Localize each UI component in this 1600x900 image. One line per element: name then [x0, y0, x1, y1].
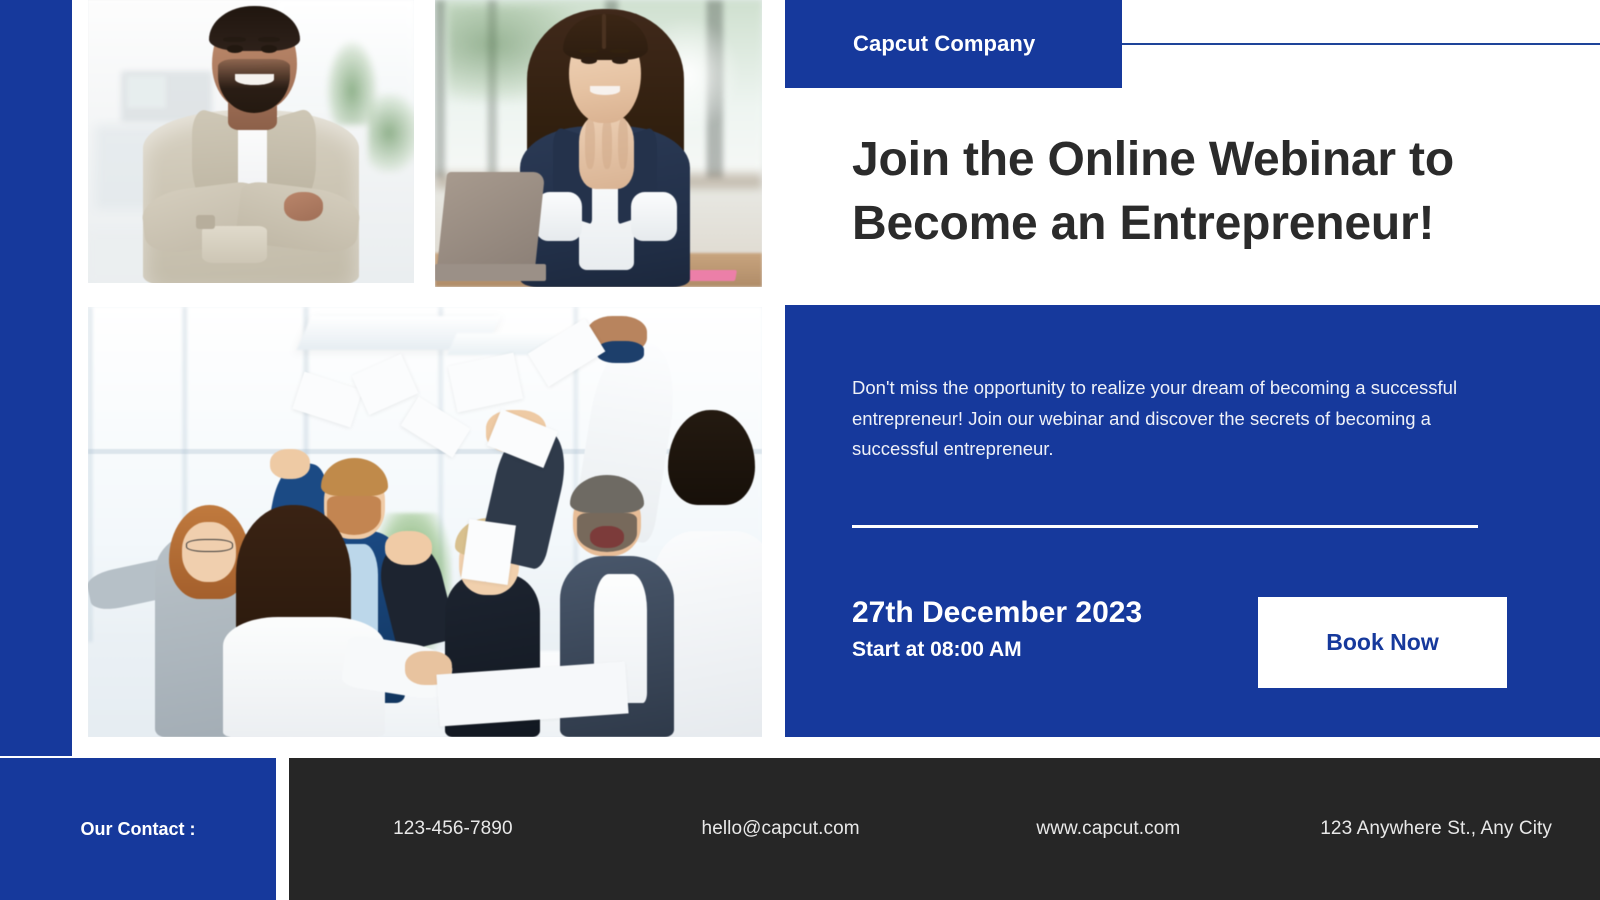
brand-divider-line: [1122, 43, 1600, 45]
webinar-poster: Capcut Company Join the Online Webinar t…: [0, 0, 1600, 900]
event-start-time: Start at 08:00 AM: [852, 635, 1142, 665]
left-accent-bar: [0, 0, 72, 756]
photo-team-celebration: [88, 307, 762, 737]
event-date: 27th December 2023: [852, 594, 1142, 632]
panel-divider-line: [852, 525, 1478, 528]
description-text: Don't miss the opportunity to realize yo…: [852, 373, 1500, 465]
brand-name: Capcut Company: [853, 31, 1035, 57]
photo-businessman: [88, 0, 414, 283]
brand-badge: Capcut Company: [785, 0, 1122, 88]
photo-businesswoman: [435, 0, 762, 287]
footer-contact-label-box: Our Contact :: [0, 758, 276, 900]
page-title: Join the Online Webinar to Become an Ent…: [852, 128, 1552, 256]
contact-website[interactable]: www.capcut.com: [945, 818, 1273, 840]
contact-phone[interactable]: 123-456-7890: [289, 818, 617, 840]
footer-contact-bar: 123-456-7890 hello@capcut.com www.capcut…: [289, 758, 1600, 900]
event-date-block: 27th December 2023 Start at 08:00 AM: [852, 594, 1142, 665]
contact-email[interactable]: hello@capcut.com: [617, 818, 945, 840]
contact-address[interactable]: 123 Anywhere St., Any City: [1272, 818, 1600, 840]
footer-contact-label: Our Contact :: [81, 819, 196, 840]
book-now-button[interactable]: Book Now: [1258, 597, 1507, 688]
